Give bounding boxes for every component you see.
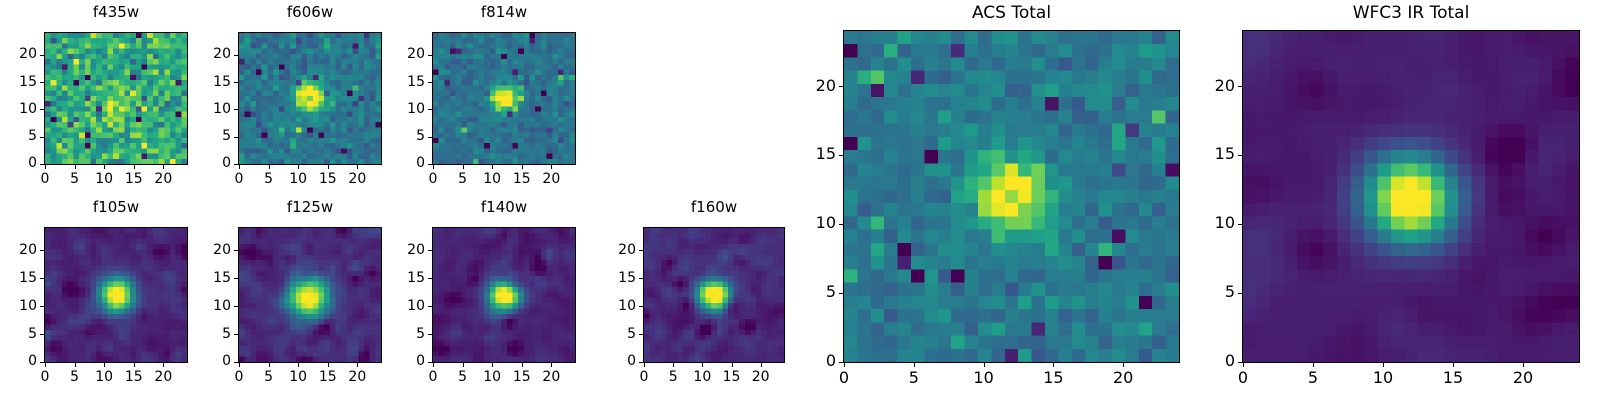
x-tick-mark [702,363,703,367]
y-tick-label: 15 [0,75,37,89]
x-tick-mark [134,165,135,169]
y-tick-label: 15 [381,271,425,285]
x-tick-mark [298,363,299,367]
x-tick-mark [522,165,523,169]
x-tick-label: 10 [679,370,725,384]
x-tick-mark [732,363,733,367]
x-tick-mark [357,165,358,169]
x-tick-label: 20 [334,370,380,384]
x-tick-label: 15 [1030,370,1076,386]
y-tick-label: 15 [592,271,636,285]
y-tick-label: 0 [792,353,836,369]
panel-title: f606w [238,5,382,20]
x-tick-mark [761,363,762,367]
y-tick-label: 5 [381,327,425,341]
x-tick-label: 15 [305,172,351,186]
y-tick-label: 20 [792,78,836,94]
x-tick-mark [1453,363,1454,367]
x-tick-mark [45,165,46,169]
x-tick-label: 10 [961,370,1007,386]
heatmap-axes [432,227,576,363]
x-tick-mark [163,363,164,367]
panel-title: f140w [432,200,576,215]
y-tick-label: 10 [381,102,425,116]
panel-title: f160w [643,200,785,215]
x-tick-label: 0 [216,172,262,186]
x-tick-label: 5 [440,370,486,384]
y-tick-label: 10 [0,102,37,116]
x-tick-mark [522,363,523,367]
x-tick-label: 5 [891,370,937,386]
y-tick-label: 0 [187,156,231,170]
heatmap-axes [643,227,785,363]
y-tick-label: 5 [0,327,37,341]
x-tick-mark [45,363,46,367]
x-tick-label: 10 [81,172,127,186]
x-tick-label: 5 [52,370,98,384]
x-tick-mark [134,363,135,367]
y-tick-label: 10 [187,299,231,313]
x-tick-label: 15 [499,370,545,384]
y-tick-label: 15 [187,75,231,89]
panel-title: WFC3 IR Total [1242,5,1580,22]
y-tick-label: 20 [381,47,425,61]
x-tick-mark [492,165,493,169]
y-tick-label: 0 [592,354,636,368]
x-tick-label: 5 [246,172,292,186]
x-tick-label: 5 [440,172,486,186]
heatmap-image [433,228,575,362]
x-tick-label: 0 [410,172,456,186]
x-tick-label: 15 [709,370,755,384]
x-tick-label: 20 [528,172,574,186]
panel-title: f814w [432,5,576,20]
heatmap-axes [44,227,188,363]
x-tick-label: 5 [650,370,696,384]
heatmap-axes [44,32,188,165]
y-tick-label: 0 [187,354,231,368]
x-tick-mark [104,165,105,169]
x-tick-mark [433,363,434,367]
y-tick-label: 20 [592,243,636,257]
y-tick-label: 20 [187,47,231,61]
y-tick-label: 0 [381,354,425,368]
y-tick-label: 5 [592,327,636,341]
y-tick-label: 5 [792,284,836,300]
heatmap-axes [432,32,576,165]
x-tick-label: 0 [22,172,68,186]
x-tick-mark [673,363,674,367]
x-tick-mark [1123,363,1124,367]
x-tick-mark [463,363,464,367]
x-tick-label: 10 [275,172,321,186]
x-tick-label: 20 [1500,370,1546,386]
y-tick-label: 20 [0,243,37,257]
x-tick-label: 15 [111,172,157,186]
heatmap-image [239,33,381,164]
x-tick-mark [269,363,270,367]
x-tick-label: 0 [410,370,456,384]
x-tick-label: 5 [1290,370,1336,386]
x-tick-label: 10 [469,370,515,384]
x-tick-mark [844,363,845,367]
y-tick-label: 20 [187,243,231,257]
x-tick-mark [1523,363,1524,367]
x-tick-mark [914,363,915,367]
x-tick-mark [1053,363,1054,367]
y-tick-label: 5 [0,129,37,143]
heatmap-image [644,228,784,362]
heatmap-axes [1242,30,1580,363]
x-tick-label: 15 [1430,370,1476,386]
x-tick-mark [551,165,552,169]
y-tick-label: 15 [792,146,836,162]
x-tick-mark [328,363,329,367]
x-tick-label: 0 [22,370,68,384]
panel-title: f125w [238,200,382,215]
figure-canvas: f435w0510152005101520f606w05101520051015… [0,0,1600,400]
x-tick-mark [1313,363,1314,367]
heatmap-image [239,228,381,362]
y-tick-label: 5 [381,129,425,143]
heatmap-axes [843,30,1180,363]
x-tick-label: 20 [140,172,186,186]
x-tick-label: 0 [821,370,867,386]
panel-title: ACS Total [843,5,1180,22]
heatmap-axes [238,227,382,363]
y-tick-label: 20 [1191,78,1235,94]
x-tick-mark [492,363,493,367]
y-tick-label: 20 [0,47,37,61]
x-tick-label: 10 [469,172,515,186]
x-tick-mark [984,363,985,367]
x-tick-label: 5 [246,370,292,384]
x-tick-label: 10 [275,370,321,384]
heatmap-image [45,33,187,164]
y-tick-label: 10 [381,299,425,313]
y-tick-label: 10 [187,102,231,116]
y-tick-label: 0 [1191,353,1235,369]
y-tick-label: 15 [187,271,231,285]
x-tick-mark [104,363,105,367]
x-tick-mark [1243,363,1244,367]
y-tick-label: 15 [0,271,37,285]
panel-title: f435w [44,5,188,20]
y-tick-label: 5 [187,129,231,143]
x-tick-label: 10 [1360,370,1406,386]
x-tick-label: 20 [528,370,574,384]
y-tick-label: 15 [1191,146,1235,162]
x-tick-mark [163,165,164,169]
y-tick-label: 0 [0,156,37,170]
heatmap-image [844,31,1179,362]
x-tick-label: 15 [499,172,545,186]
y-tick-label: 0 [0,354,37,368]
y-tick-label: 10 [0,299,37,313]
x-tick-label: 20 [738,370,784,384]
x-tick-mark [1383,363,1384,367]
x-tick-mark [298,165,299,169]
y-tick-label: 20 [381,243,425,257]
x-tick-mark [75,363,76,367]
y-tick-label: 15 [381,75,425,89]
x-tick-mark [75,165,76,169]
y-tick-label: 10 [1191,215,1235,231]
heatmap-image [45,228,187,362]
x-tick-label: 20 [140,370,186,384]
y-tick-label: 10 [592,299,636,313]
heatmap-image [433,33,575,164]
y-tick-label: 10 [792,215,836,231]
x-tick-mark [239,363,240,367]
x-tick-label: 15 [111,370,157,384]
x-tick-label: 20 [334,172,380,186]
x-tick-label: 0 [1220,370,1266,386]
x-tick-mark [463,165,464,169]
heatmap-axes [238,32,382,165]
x-tick-label: 10 [81,370,127,384]
x-tick-mark [357,363,358,367]
x-tick-mark [644,363,645,367]
heatmap-image [1243,31,1579,362]
x-tick-label: 15 [305,370,351,384]
x-tick-mark [551,363,552,367]
x-tick-label: 20 [1100,370,1146,386]
x-tick-mark [269,165,270,169]
x-tick-label: 5 [52,172,98,186]
y-tick-label: 5 [187,327,231,341]
x-tick-mark [239,165,240,169]
panel-title: f105w [44,200,188,215]
x-tick-mark [433,165,434,169]
y-tick-label: 0 [381,156,425,170]
y-tick-label: 5 [1191,284,1235,300]
x-tick-label: 0 [216,370,262,384]
x-tick-mark [328,165,329,169]
x-tick-label: 0 [621,370,667,384]
